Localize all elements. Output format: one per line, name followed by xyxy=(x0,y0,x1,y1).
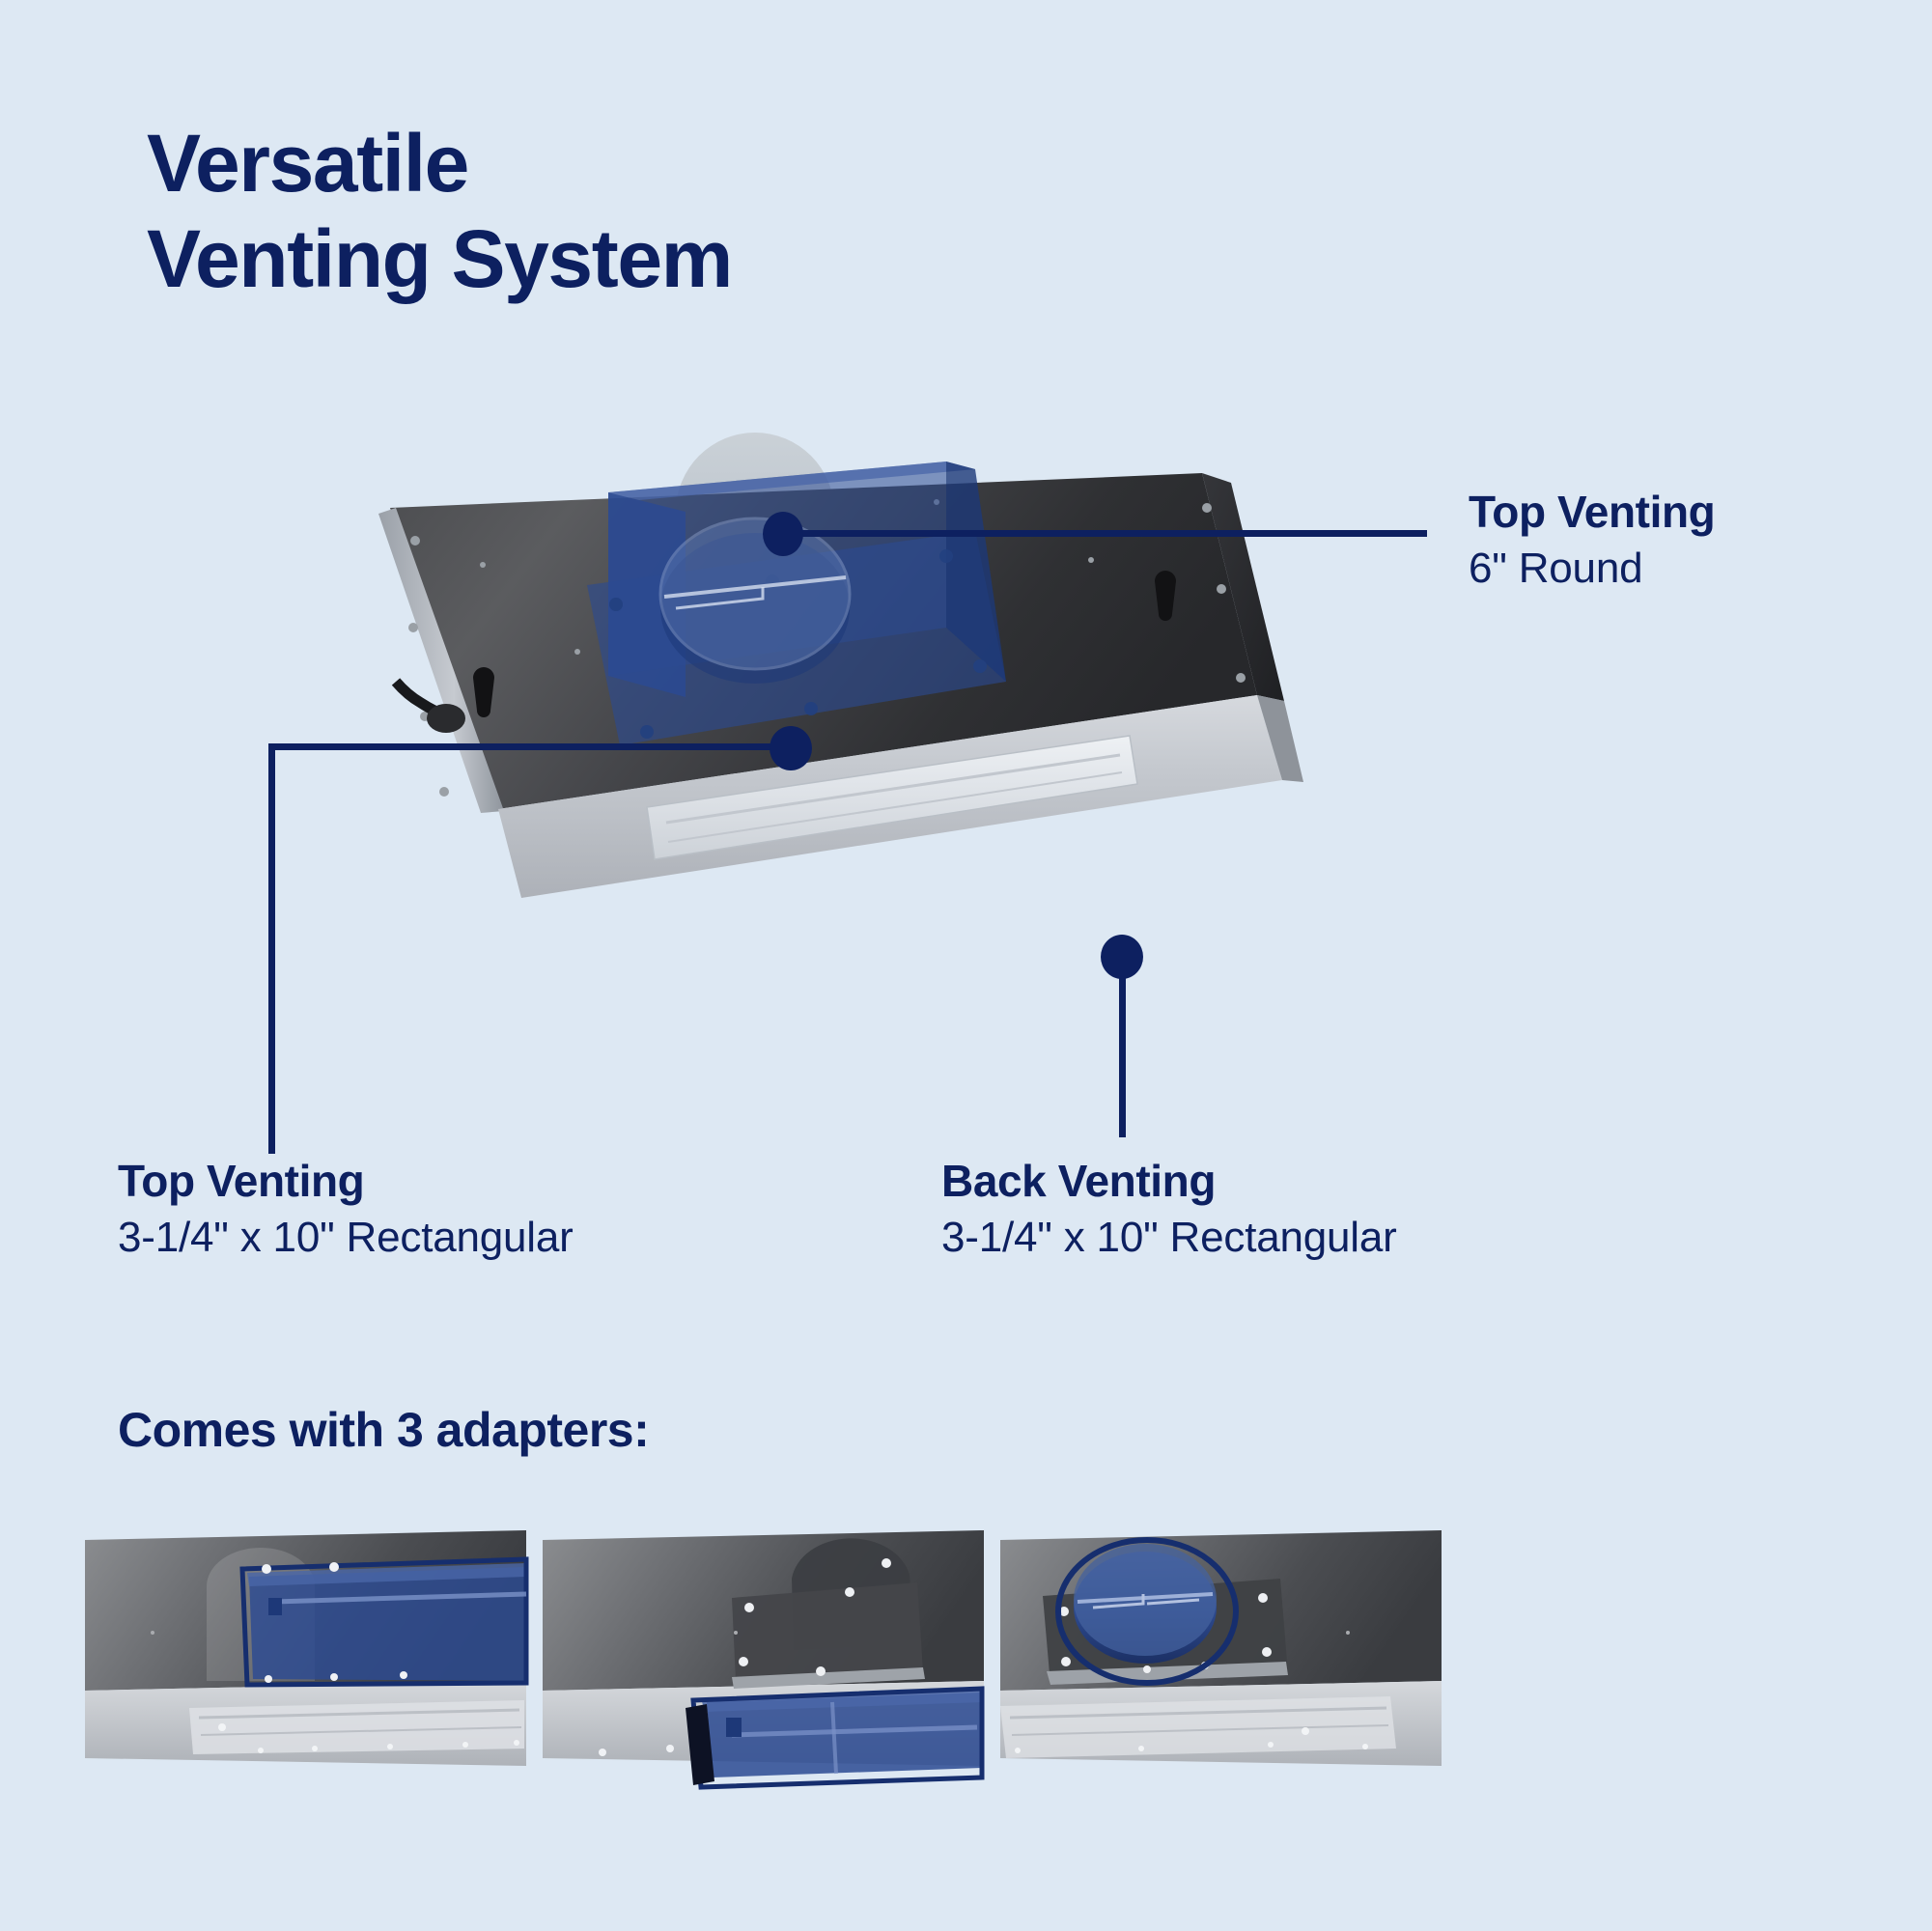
adapter-panel-round-top xyxy=(1000,1519,1442,1775)
callout-title: Back Venting xyxy=(941,1157,1397,1207)
product-illustration xyxy=(357,473,1574,927)
round-adapter-highlight xyxy=(1058,1540,1236,1683)
leader-line-top-rect-vertical xyxy=(268,743,275,1154)
adapters-heading: Comes with 3 adapters: xyxy=(118,1402,649,1458)
rectangular-back-adapter-highlight xyxy=(686,1689,982,1787)
leader-line-top-round xyxy=(778,530,1427,537)
leader-dot-top-rect xyxy=(770,726,812,770)
leader-dot-back-vent xyxy=(1101,935,1143,979)
page-title: Versatile Venting System xyxy=(147,116,732,307)
leader-line-top-rect-horizontal xyxy=(268,743,790,750)
leader-line-back-vent xyxy=(1119,965,1126,1137)
leader-dot-top-round xyxy=(763,512,803,556)
round-damper xyxy=(660,518,850,684)
callout-top-venting-rectangular: Top Venting 3-1/4" x 10" Rectangular xyxy=(118,1157,574,1263)
callout-title: Top Venting xyxy=(118,1157,574,1207)
callout-title: Top Venting xyxy=(1469,488,1715,538)
infographic-canvas: Versatile Venting System xyxy=(0,0,1932,1931)
callout-subtitle: 3-1/4" x 10" Rectangular xyxy=(941,1213,1397,1264)
callout-subtitle: 3-1/4" x 10" Rectangular xyxy=(118,1213,574,1264)
callout-back-venting-rectangular: Back Venting 3-1/4" x 10" Rectangular xyxy=(941,1157,1397,1263)
callout-top-venting-round: Top Venting 6" Round xyxy=(1469,488,1715,594)
adapter-panel-top-rectangular xyxy=(85,1519,526,1775)
adapter-panel-back-rectangular xyxy=(543,1519,984,1775)
callout-subtitle: 6" Round xyxy=(1469,544,1715,595)
rectangular-top-adapter-highlight xyxy=(242,1559,526,1685)
